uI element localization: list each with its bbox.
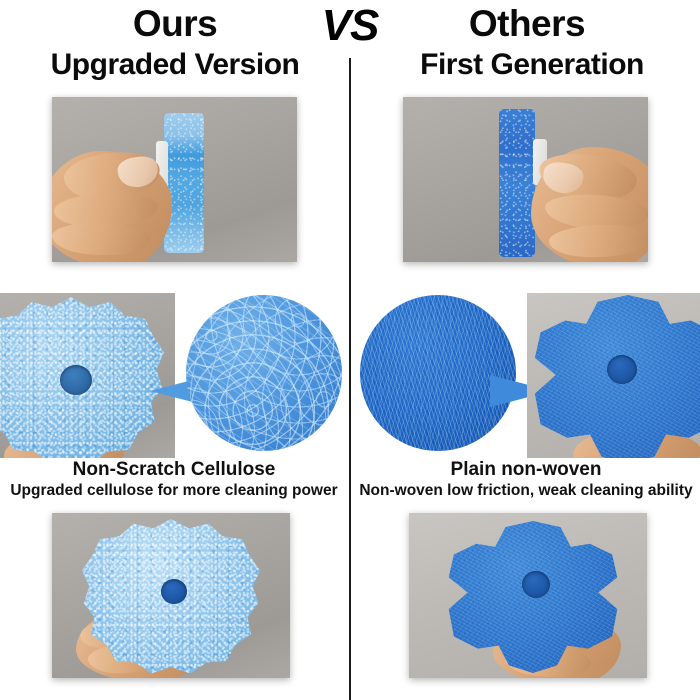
sponge-texture (499, 109, 535, 257)
caption-others-subtitle: Non-woven low friction, weak cleaning ab… (352, 481, 700, 501)
comparison-infographic: Ours Upgraded Version VS Others First Ge… (0, 0, 700, 700)
ours-subtitle: Upgraded Version (28, 49, 322, 81)
pad-center-hole (522, 571, 550, 598)
ours-title: Ours (60, 4, 290, 44)
photo-ours-pad-held (52, 513, 290, 678)
others-title: Others (412, 4, 642, 44)
photo-others-edge-profile (403, 97, 648, 262)
caption-others-title: Plain non-woven (352, 459, 700, 481)
vs-label: VS (300, 2, 400, 50)
sponge-edge-ours (164, 113, 204, 253)
sponge-edge-others (499, 109, 535, 257)
photo-others-pad-front (527, 293, 700, 458)
photo-ours-edge-profile (52, 97, 297, 262)
sponge-texture (164, 113, 204, 253)
flat-fiber-texture (360, 295, 516, 451)
caption-ours-title: Non-Scratch Cellulose (0, 459, 348, 481)
magnifier-ours-cellulose (186, 295, 342, 451)
pad-center-hole (60, 365, 92, 395)
caption-ours-subtitle: Upgraded cellulose for more cleaning pow… (0, 481, 348, 501)
pad-center-hole (161, 579, 187, 604)
magnifier-others-nonwoven (360, 295, 516, 451)
photo-others-pad-held (409, 513, 647, 678)
center-divider (349, 58, 351, 700)
caption-others: Plain non-woven Non-woven low friction, … (352, 459, 700, 501)
photo-ours-pad-front (0, 293, 175, 458)
caption-ours: Non-Scratch Cellulose Upgraded cellulose… (0, 459, 348, 501)
others-subtitle: First Generation (382, 49, 682, 81)
pad-center-hole (607, 355, 637, 384)
loose-fiber-texture (186, 295, 342, 451)
